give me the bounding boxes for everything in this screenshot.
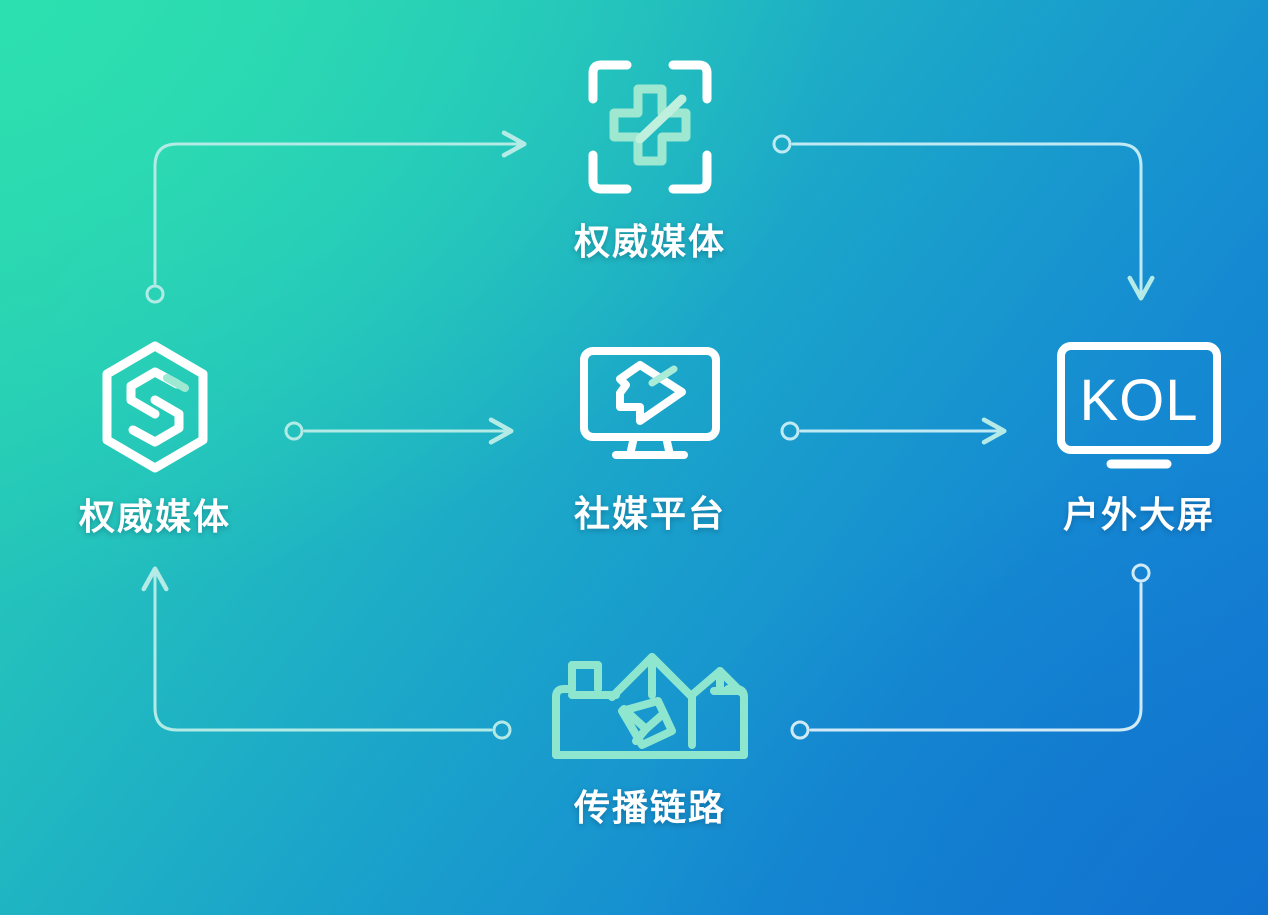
hexagon-highlight [167,378,185,388]
monitor-screen [584,351,716,437]
icon-wrap: KOL [1055,340,1223,472]
billboard-text: KOL [1079,368,1198,433]
node-right-outdoor-screen[interactable]: KOL 户外大屏 [1009,340,1268,538]
scan-frame-medical-cross-icon [582,55,718,199]
hexagon-outline [107,346,203,468]
billboard-screen-icon: KOL [1055,340,1223,472]
node-label: 权威媒体 [79,488,231,540]
node-top-authoritative-media[interactable]: 权威媒体 [520,55,780,265]
node-center-social-platform[interactable]: 社媒平台 [520,345,780,537]
diagram-canvas: 权威媒体 权威媒体 [0,0,1268,915]
node-left-authoritative-media[interactable]: 权威媒体 [25,340,285,540]
node-label: 传播链路 [574,779,726,831]
monitor-play-icon [578,345,722,471]
node-label: 权威媒体 [574,213,726,265]
node-label: 户外大屏 [1063,486,1215,538]
city-houses-icon [550,645,750,765]
hexagon-badge-icon [97,340,213,474]
node-label: 社媒平台 [574,485,726,537]
node-bottom-communication-chain[interactable]: 传播链路 [520,645,780,831]
icon-wrap [550,645,750,765]
icon-wrap [578,345,722,471]
icon-wrap [582,55,718,199]
icon-wrap [97,340,213,474]
node-layer: 权威媒体 权威媒体 [0,0,1268,915]
